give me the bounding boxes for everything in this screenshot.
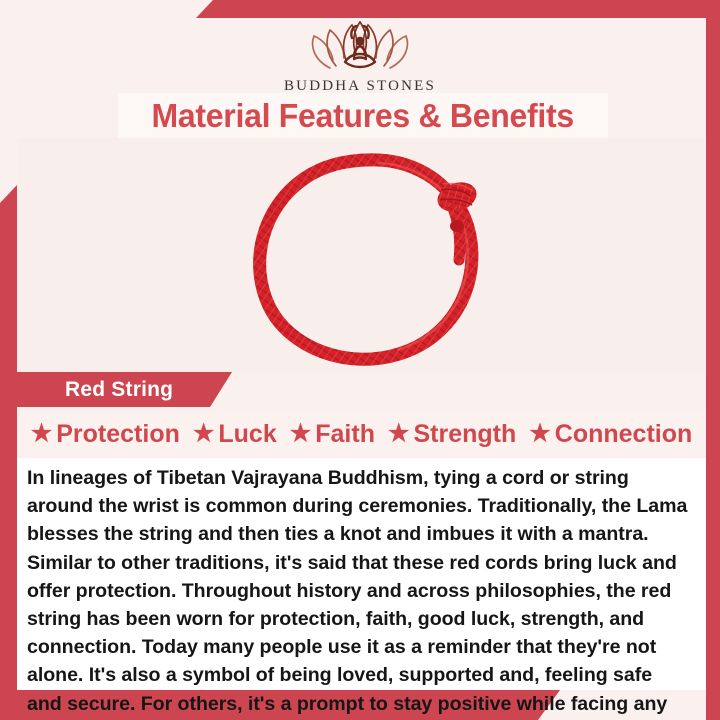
brand-logo: BUDDHA STONES — [0, 14, 720, 95]
product-name-label: Red String — [65, 378, 173, 402]
benefit-item-faith: ★ Faith — [290, 420, 375, 449]
benefit-item-strength: ★ Strength — [388, 420, 516, 449]
description-text: In lineages of Tibetan Vajrayana Buddhis… — [27, 464, 692, 720]
benefit-label: Strength — [413, 420, 516, 449]
right-red-border — [706, 0, 720, 720]
lotus-meditation-icon — [300, 14, 420, 76]
benefit-label: Protection — [56, 420, 180, 449]
red-braided-string-bracelet-icon — [227, 150, 517, 375]
benefit-item-protection: ★ Protection — [31, 420, 180, 449]
benefit-label: Luck — [218, 420, 276, 449]
page-title: Material Features & Benefits — [152, 97, 574, 135]
infographic-page: BUDDHA STONES Material Features & Benefi… — [0, 0, 720, 720]
benefits-row: ★ Protection ★ Luck ★ Faith ★ Strength ★… — [17, 412, 706, 456]
star-icon: ★ — [31, 422, 53, 446]
left-red-border — [0, 185, 17, 720]
star-icon: ★ — [193, 422, 215, 446]
description-panel: In lineages of Tibetan Vajrayana Buddhis… — [17, 458, 706, 690]
benefit-item-connection: ★ Connection — [529, 420, 692, 449]
page-title-band: Material Features & Benefits — [118, 93, 608, 138]
star-icon: ★ — [529, 422, 551, 446]
benefit-item-luck: ★ Luck — [193, 420, 277, 449]
benefit-label: Faith — [315, 420, 375, 449]
star-icon: ★ — [388, 422, 410, 446]
star-icon: ★ — [290, 422, 312, 446]
product-image — [17, 138, 706, 375]
benefit-label: Connection — [555, 420, 693, 449]
product-name-ribbon: Red String — [17, 372, 232, 407]
